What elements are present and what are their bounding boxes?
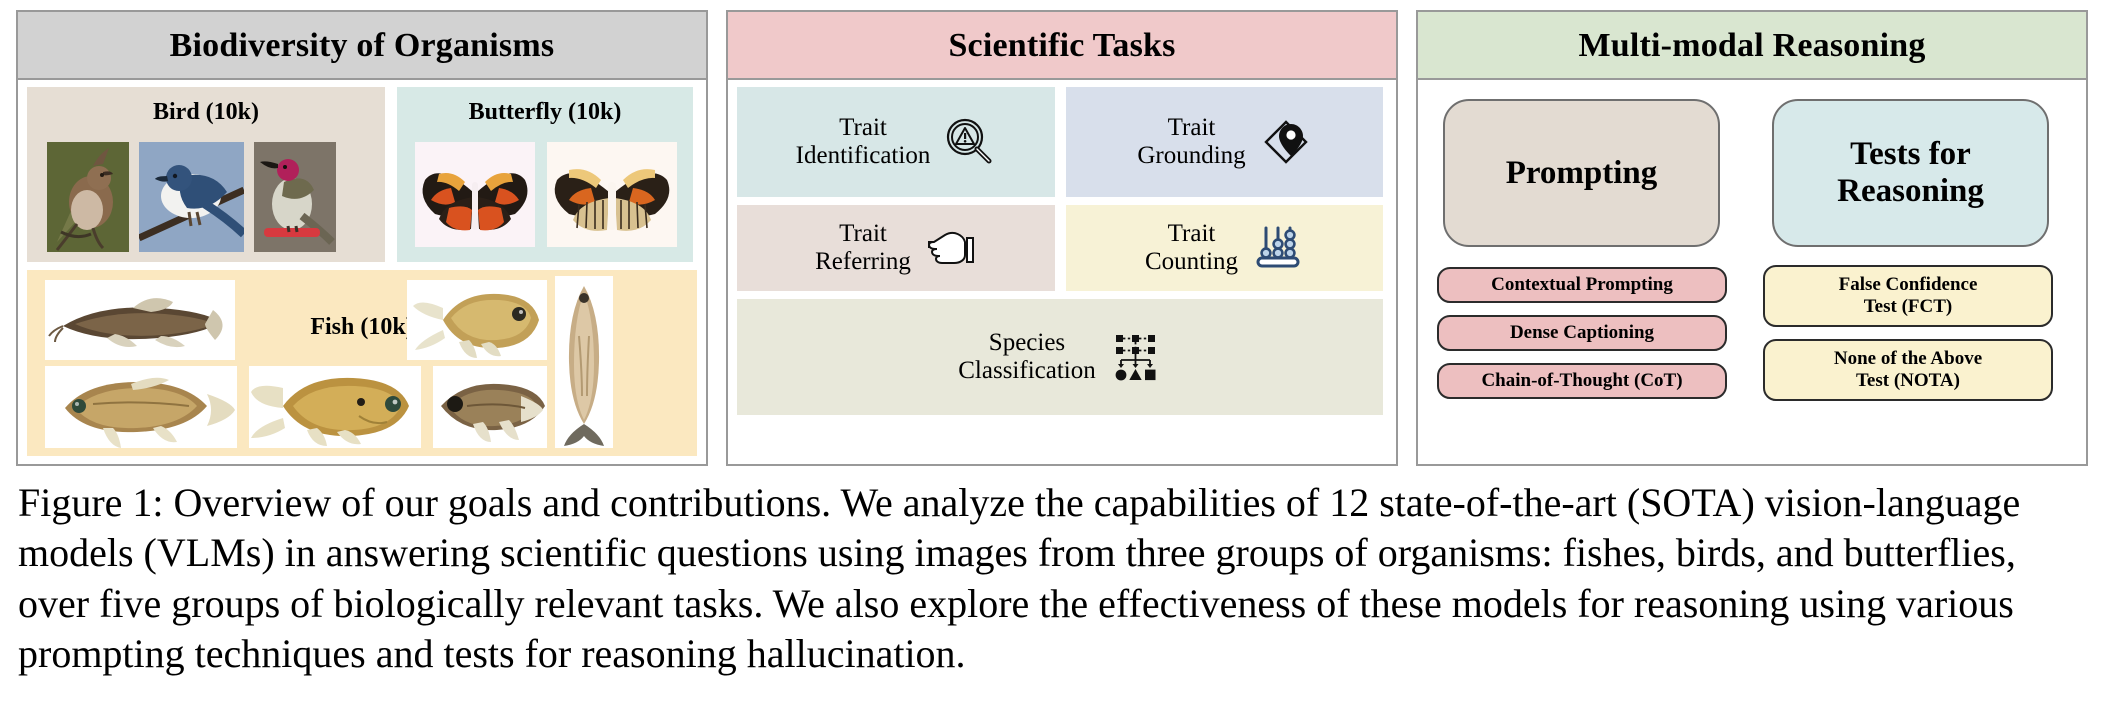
task-trait-grounding-label: Trait Grounding xyxy=(1137,114,1245,171)
task-trait-counting[interactable]: Trait Counting xyxy=(1066,205,1383,291)
task-trait-referring[interactable]: Trait Referring xyxy=(737,205,1055,291)
task-trait-identification[interactable]: Trait Identification xyxy=(737,87,1055,197)
taxonomy-tree-icon xyxy=(1110,331,1162,383)
panel-multimodal-reasoning-title: Multi-modal Reasoning xyxy=(1418,12,2086,80)
task-trait-identification-label: Trait Identification xyxy=(796,114,931,171)
bio-top-row: Bird (10k) xyxy=(27,87,697,262)
bird-photo-wren xyxy=(47,142,129,252)
card-prompting[interactable]: Prompting xyxy=(1443,99,1720,247)
tasks-grid: Trait Identification xyxy=(737,87,1387,459)
figure-1: Biodiversity of Organisms Bird (10k) xyxy=(0,0,2104,726)
abacus-icon xyxy=(1252,222,1304,274)
butterfly-photo-2 xyxy=(547,142,677,247)
group-butterfly-label: Butterfly (10k) xyxy=(397,99,693,126)
map-pin-diamond-icon xyxy=(1260,116,1312,168)
pill-chain-of-thought[interactable]: Chain-of-Thought (CoT) xyxy=(1437,363,1727,399)
panel-multimodal-reasoning-body: Prompting Tests for Reasoning Contextual… xyxy=(1418,80,2086,466)
fish-photo-minnow xyxy=(555,276,613,448)
task-trait-grounding[interactable]: Trait Grounding xyxy=(1066,87,1383,197)
panel-scientific-tasks-body: Trait Identification xyxy=(728,80,1396,466)
group-bird-label: Bird (10k) xyxy=(27,99,385,126)
reasoning-content: Prompting Tests for Reasoning Contextual… xyxy=(1427,87,2077,459)
task-species-classification[interactable]: Species Classification xyxy=(737,299,1383,415)
group-butterfly: Butterfly (10k) xyxy=(397,87,693,262)
panel-biodiversity-title: Biodiversity of Organisms xyxy=(18,12,706,80)
panel-biodiversity: Biodiversity of Organisms Bird (10k) xyxy=(16,10,708,466)
panel-row: Biodiversity of Organisms Bird (10k) xyxy=(0,0,2104,470)
bird-photo-hummingbird xyxy=(254,142,336,252)
fish-photo-darter xyxy=(433,366,547,448)
fish-photo-sunfish-2 xyxy=(249,366,421,448)
pill-false-confidence-test[interactable]: False Confidence Test (FCT) xyxy=(1763,265,2053,327)
figure-caption: Figure 1: Overview of our goals and cont… xyxy=(18,478,2088,680)
group-fish: Fish (10k) xyxy=(27,270,697,456)
task-trait-counting-label: Trait Counting xyxy=(1145,220,1238,277)
fish-photo-carp xyxy=(45,366,237,448)
butterfly-photo-1 xyxy=(415,142,535,247)
panel-scientific-tasks: Scientific Tasks Trait Identification xyxy=(726,10,1398,466)
magnifier-warning-icon xyxy=(944,116,996,168)
panel-scientific-tasks-title: Scientific Tasks xyxy=(728,12,1396,80)
pointing-hand-icon xyxy=(925,222,977,274)
panel-biodiversity-body: Bird (10k) xyxy=(18,80,706,466)
fish-photo-sunfish-1 xyxy=(407,280,547,360)
pill-contextual-prompting[interactable]: Contextual Prompting xyxy=(1437,267,1727,303)
bird-photo-swallow xyxy=(139,142,244,252)
panel-multimodal-reasoning: Multi-modal Reasoning Prompting Tests fo… xyxy=(1416,10,2088,466)
pill-none-of-the-above-test[interactable]: None of the Above Test (NOTA) xyxy=(1763,339,2053,401)
task-species-classification-label: Species Classification xyxy=(958,329,1095,386)
card-tests-for-reasoning[interactable]: Tests for Reasoning xyxy=(1772,99,2049,247)
pill-dense-captioning[interactable]: Dense Captioning xyxy=(1437,315,1727,351)
group-bird: Bird (10k) xyxy=(27,87,385,262)
task-trait-referring-label: Trait Referring xyxy=(815,220,911,277)
fish-photo-catfish xyxy=(45,280,235,360)
